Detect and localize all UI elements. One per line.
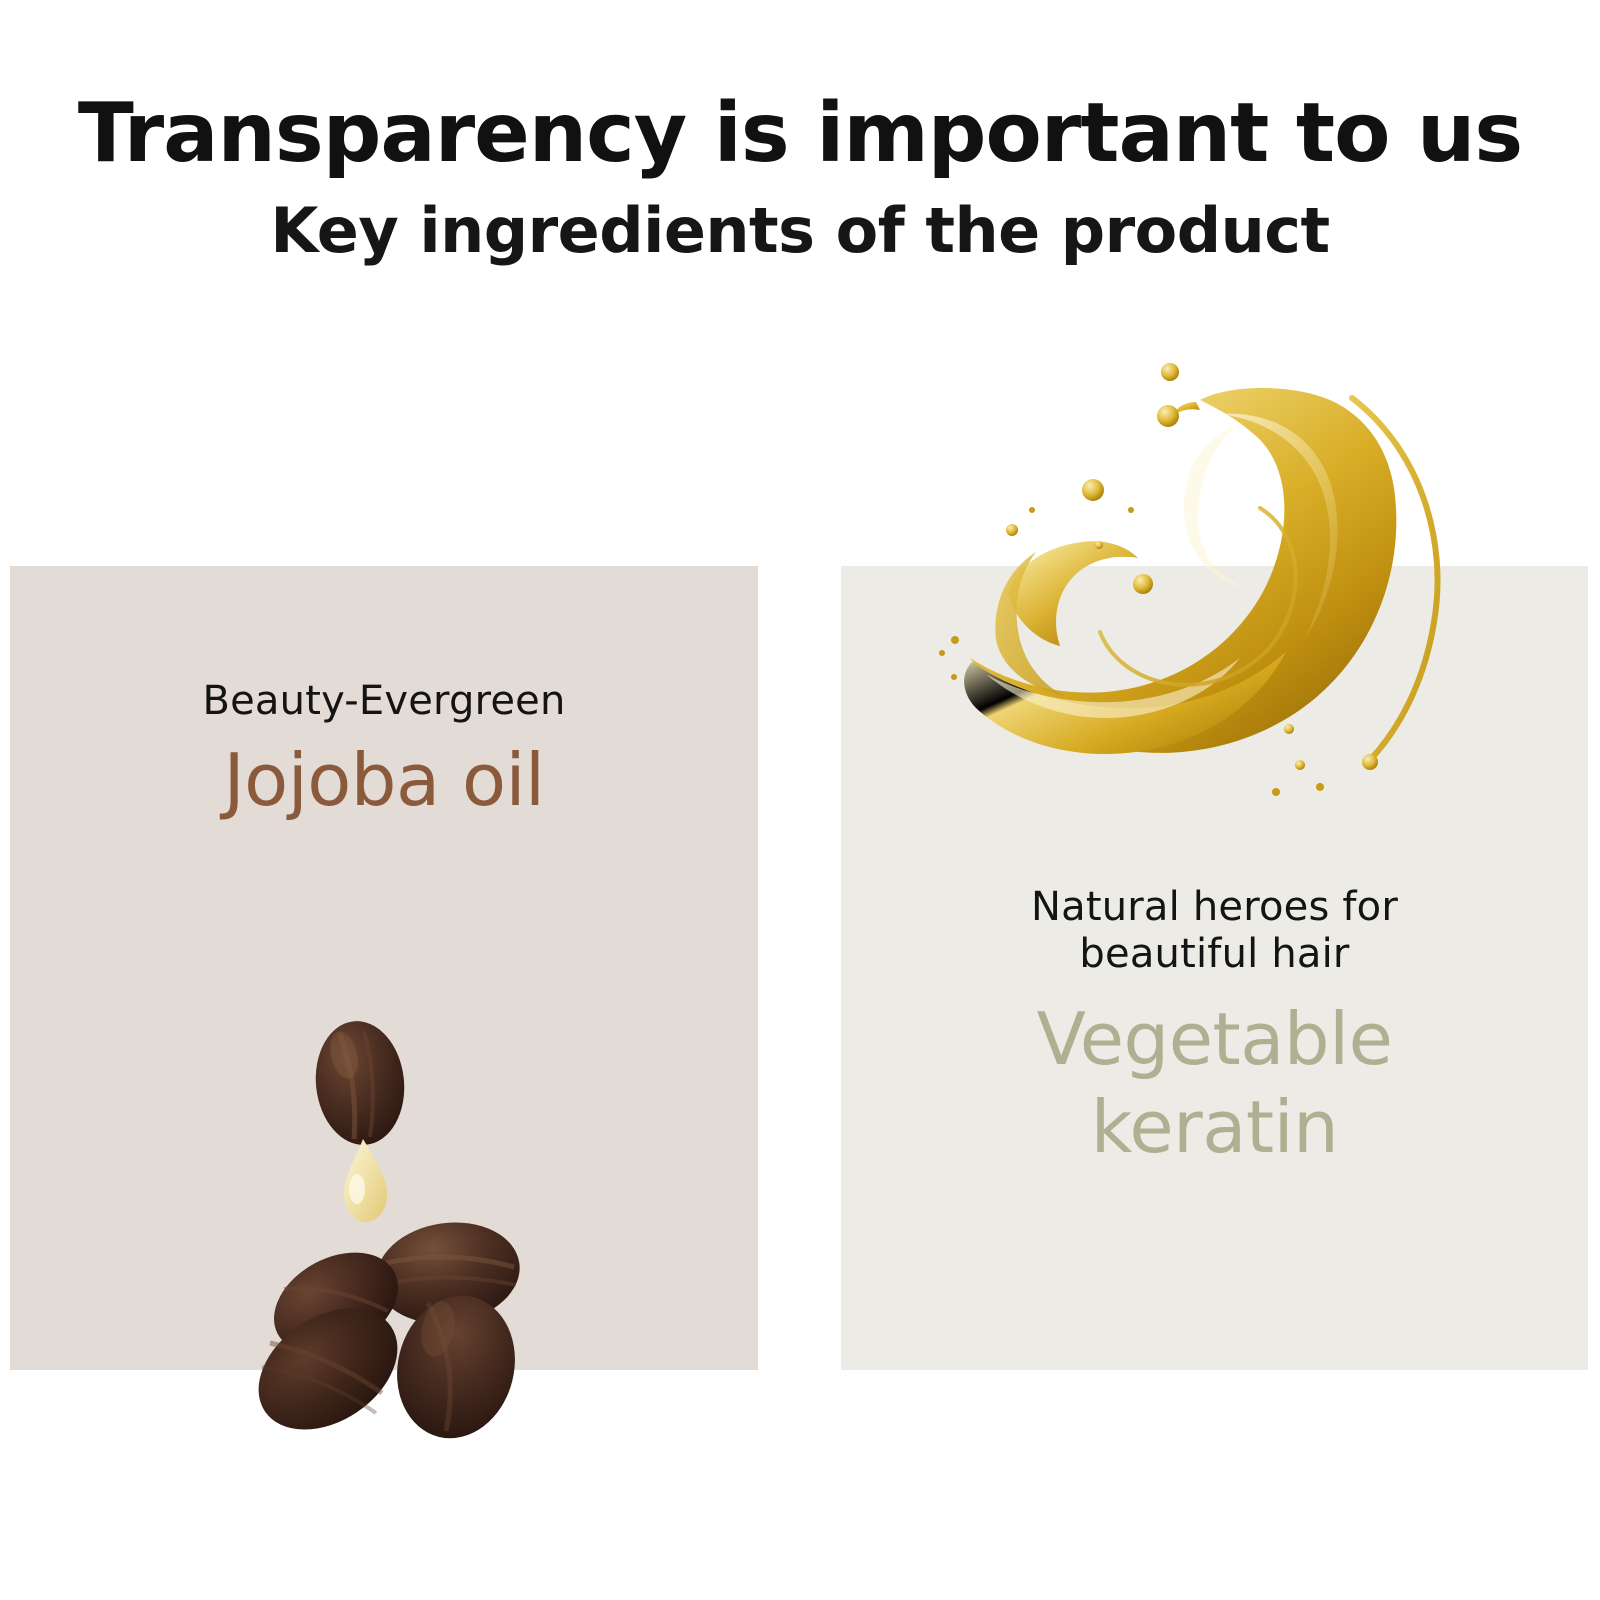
jojoba-seed-cluster: [236, 1213, 530, 1451]
jojoba-eyebrow: Beauty-Evergreen: [10, 678, 758, 725]
jojoba-seeds-image: [232, 1011, 572, 1451]
header: Transparency is important to us Key ingr…: [0, 0, 1600, 263]
jojoba-seed-floating: [310, 1017, 410, 1150]
keratin-eyebrow: Natural heroes for beautiful hair: [841, 884, 1588, 978]
jojoba-text-block: Beauty-Evergreen Jojoba oil: [10, 678, 758, 825]
infographic-canvas: Transparency is important to us Key ingr…: [0, 0, 1600, 1600]
keratin-text-block: Natural heroes for beautiful hair Vegeta…: [841, 884, 1588, 1172]
keratin-name-line-2: keratin: [841, 1084, 1588, 1172]
keratin-name-line-1: Vegetable: [841, 996, 1588, 1084]
jojoba-oil-droplet: [344, 1139, 387, 1222]
keratin-eyebrow-line-2: beautiful hair: [841, 931, 1588, 978]
page-title: Transparency is important to us: [0, 0, 1600, 176]
jojoba-ingredient-name: Jojoba oil: [10, 725, 758, 825]
page-subtitle: Key ingredients of the product: [0, 176, 1600, 263]
keratin-eyebrow-line-1: Natural heroes for: [841, 884, 1588, 931]
keratin-ingredient-name: Vegetable keratin: [841, 978, 1588, 1172]
oil-bead-top: [1157, 405, 1179, 427]
ingredient-card-jojoba-oil: Beauty-Evergreen Jojoba oil: [10, 566, 758, 1370]
ingredient-card-vegetable-keratin: Natural heroes for beautiful hair Vegeta…: [841, 566, 1588, 1370]
